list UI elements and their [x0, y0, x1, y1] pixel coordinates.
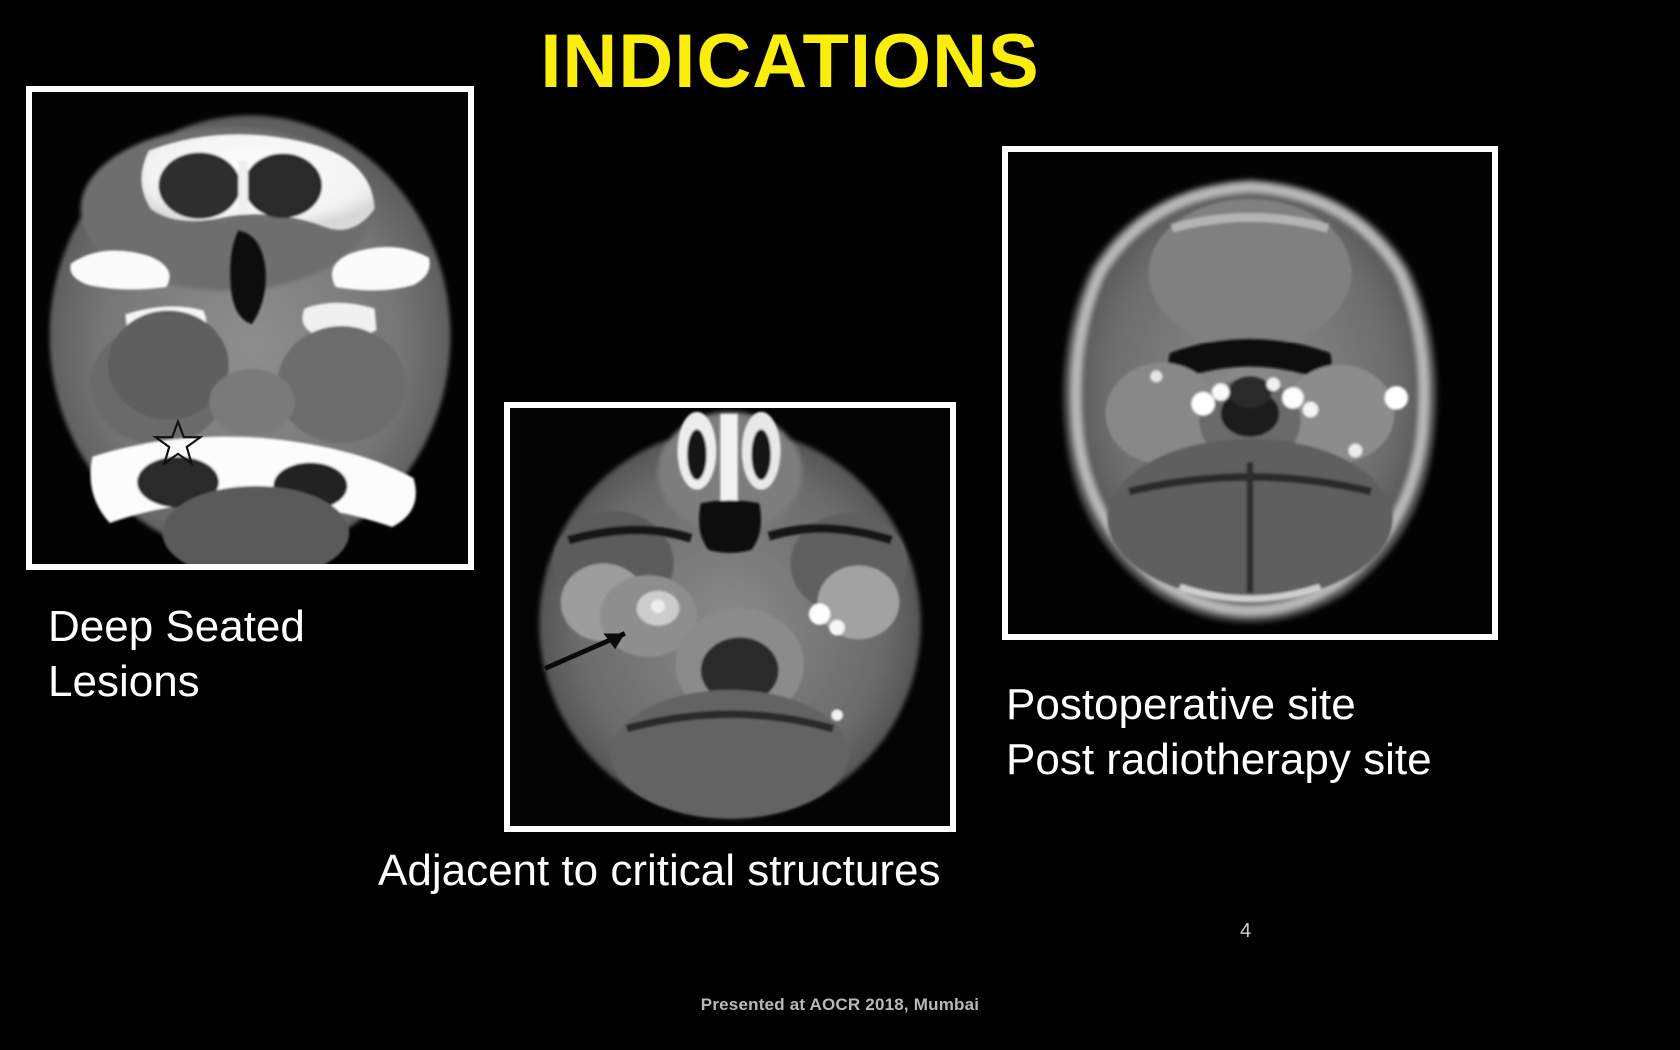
- caption-deep-seated-lesions: Deep Seated Lesions: [48, 600, 305, 709]
- page-title: INDICATIONS: [430, 24, 1150, 100]
- presentation-slide: INDICATIONS: [0, 0, 1680, 1050]
- caption-adjacent-critical-structures: Adjacent to critical structures: [378, 844, 940, 899]
- page-number: 4: [1240, 920, 1251, 943]
- presentation-attribution: Presented at AOCR 2018, Mumbai: [0, 995, 1680, 1015]
- caption-postoperative-radiotherapy-site: Postoperative site Post radiotherapy sit…: [1006, 678, 1432, 787]
- mri-axial-scan-image: [504, 402, 956, 832]
- mri-postoperative-scan-image: [1002, 146, 1498, 640]
- ct-axial-scan-image: [26, 86, 474, 570]
